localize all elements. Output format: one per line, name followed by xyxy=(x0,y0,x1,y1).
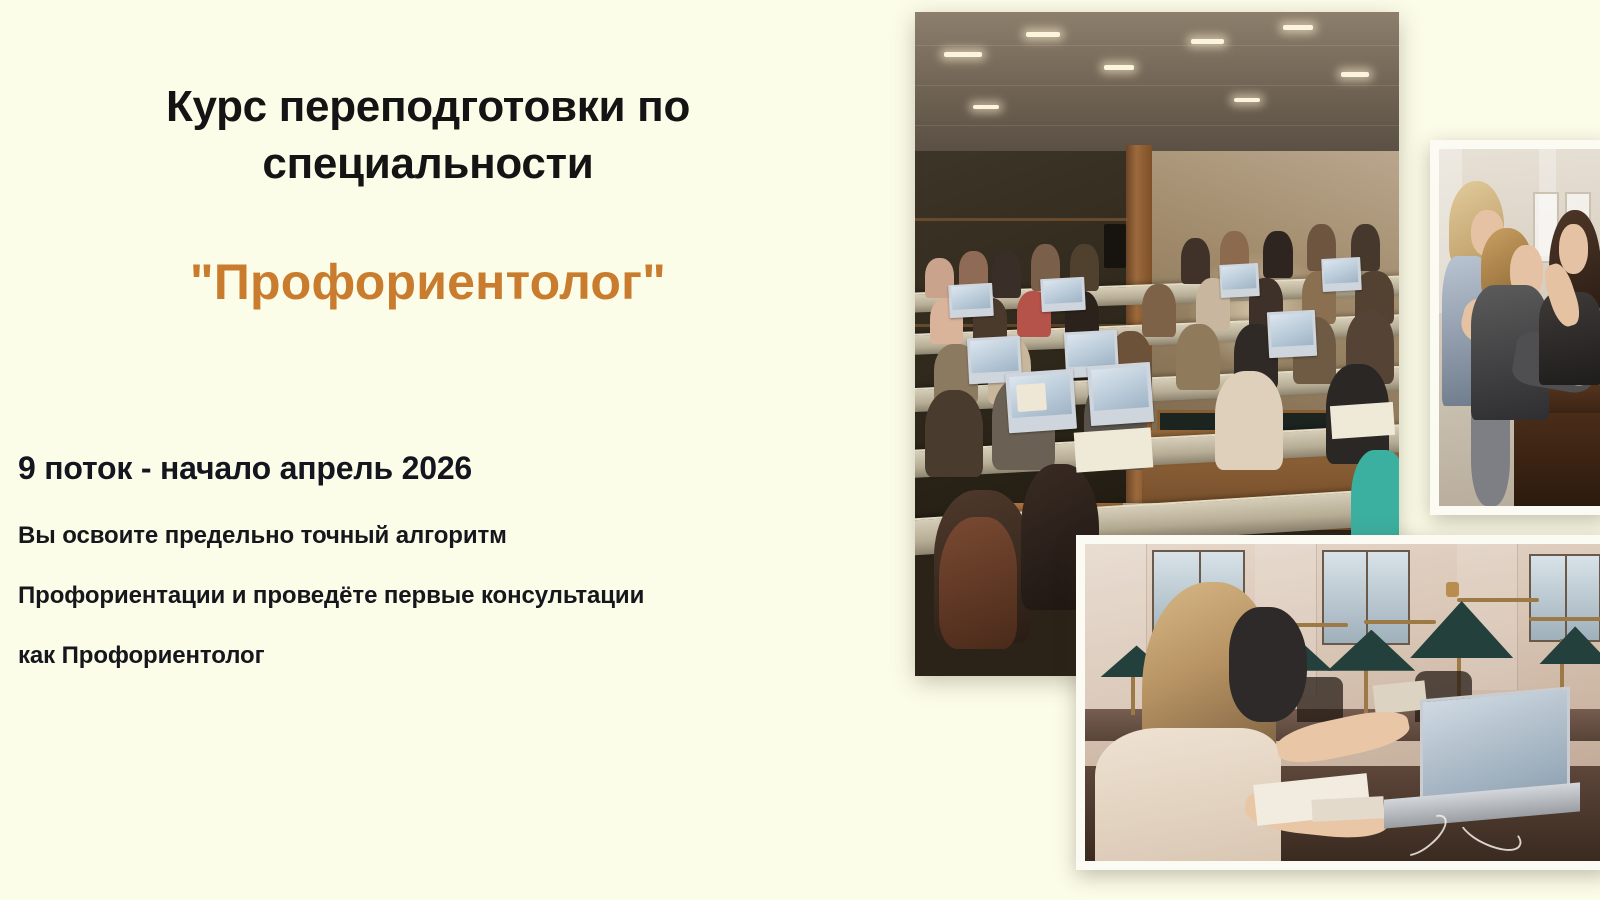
laptop xyxy=(1321,257,1361,292)
lamp-cap xyxy=(1446,582,1459,597)
reading-room-scene xyxy=(1085,544,1600,861)
ceiling-light xyxy=(1104,65,1134,70)
ceiling-light xyxy=(1026,32,1060,37)
headline-line-1: Курс переподготовки по xyxy=(166,82,690,131)
ceiling-seam xyxy=(915,125,1399,126)
photo-reading-room xyxy=(1076,535,1600,870)
lamp-arm xyxy=(1529,617,1600,621)
paper-sheet xyxy=(1073,428,1153,473)
students-scene xyxy=(1439,149,1600,506)
wall-trim xyxy=(915,218,1128,221)
audience-person xyxy=(1181,238,1210,284)
laptop xyxy=(1219,263,1259,298)
ceiling-light xyxy=(1341,72,1369,77)
description-line-3: как Профориентолог xyxy=(18,642,848,670)
scarf xyxy=(939,517,1016,650)
headline-line-2: специальности xyxy=(262,139,593,188)
window xyxy=(1322,550,1410,645)
lamp-arm xyxy=(1457,598,1540,602)
photo-students-library xyxy=(1430,140,1600,515)
library-desk-front xyxy=(1514,413,1600,506)
stream-start-date: 9 поток - начало апрель 2026 xyxy=(18,450,472,487)
paper-sheet xyxy=(1330,402,1395,439)
laptop xyxy=(1040,276,1085,311)
wall-pilaster xyxy=(1085,544,1147,722)
audience-person xyxy=(992,251,1021,297)
course-name-accent: "Профориентолог" xyxy=(18,252,838,312)
audience-person xyxy=(925,390,983,476)
window xyxy=(1529,554,1600,643)
paper-sheet xyxy=(1312,796,1385,822)
photo-collage xyxy=(880,0,1600,900)
audience-person xyxy=(1263,231,1292,277)
ceiling-light xyxy=(944,52,982,57)
page-title: Курс переподготовки по специальности xyxy=(18,78,838,192)
coffee-cup xyxy=(1016,383,1047,412)
lamp-arm xyxy=(1364,620,1436,624)
student-face xyxy=(1559,224,1588,274)
far-papers xyxy=(1373,681,1427,715)
description-block: Вы освоите предельно точный алгоритм Про… xyxy=(18,522,848,670)
ceiling xyxy=(915,12,1399,165)
ceiling-light xyxy=(1283,25,1313,30)
audience-person xyxy=(1142,284,1176,337)
speaker-box xyxy=(1104,224,1126,268)
audience-person xyxy=(1176,324,1220,390)
ceiling-light xyxy=(1191,39,1224,44)
laptop xyxy=(1267,310,1318,359)
text-column: Курс переподготовки по специальности "Пр… xyxy=(0,0,880,900)
description-line-2: Профориентации и проведёте первые консул… xyxy=(18,582,848,610)
description-line-1: Вы освоите предельно точный алгоритм xyxy=(18,522,848,550)
ceiling-light xyxy=(973,105,999,109)
headphones-icon xyxy=(1229,607,1306,721)
slide-root: Курс переподготовки по специальности "Пр… xyxy=(0,0,1600,900)
laptop xyxy=(948,283,993,318)
ceiling-seam xyxy=(915,45,1399,46)
ceiling-seam xyxy=(915,85,1399,86)
ceiling-light xyxy=(1234,98,1260,102)
audience-person xyxy=(1215,371,1283,471)
laptop xyxy=(1087,362,1154,426)
